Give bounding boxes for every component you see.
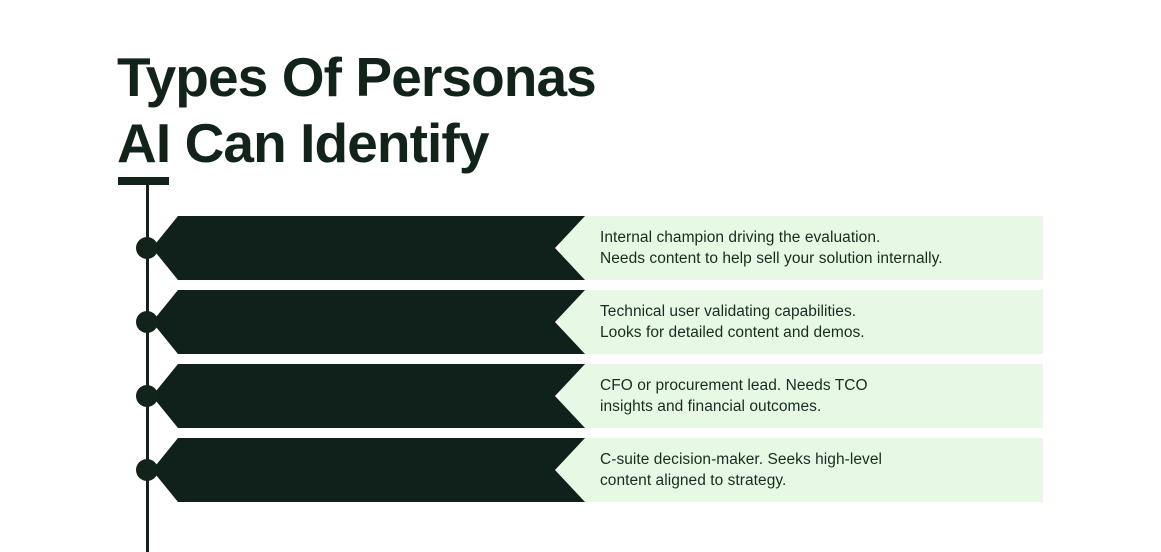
timeline-dot-3 bbox=[136, 385, 158, 407]
persona-description-panel: C-suite decision-maker. Seeks high-level… bbox=[560, 438, 1043, 502]
persona-description-text: C-suite decision-maker. Seeks high-level… bbox=[600, 449, 882, 491]
page-title-line-2: AI Can Identify bbox=[117, 110, 1017, 176]
persona-description-text: CFO or procurement lead. Needs TCO insig… bbox=[600, 375, 868, 417]
page-title: Types Of Personas AI Can Identify bbox=[117, 44, 1017, 176]
page-title-line-2-rest: Can Identify bbox=[170, 112, 488, 174]
persona-description-panel: CFO or procurement lead. Needs TCO insig… bbox=[560, 364, 1043, 428]
page-title-line-1: Types Of Personas bbox=[117, 44, 1017, 110]
persona-description-panel: Internal champion driving the evaluation… bbox=[560, 216, 1043, 280]
persona-description-text: Technical user validating capabilities. … bbox=[600, 301, 865, 343]
timeline-dot-2 bbox=[136, 311, 158, 333]
persona-description-panel: Technical user validating capabilities. … bbox=[560, 290, 1043, 354]
timeline-dot-4 bbox=[136, 459, 158, 481]
persona-banner[interactable] bbox=[152, 438, 585, 502]
persona-description-text: Internal champion driving the evaluation… bbox=[600, 227, 943, 269]
persona-banner[interactable] bbox=[152, 216, 585, 280]
persona-banner[interactable] bbox=[152, 290, 585, 354]
timeline-dot-1 bbox=[136, 237, 158, 259]
page-title-underlined-ai: AI bbox=[117, 110, 170, 176]
persona-banner[interactable] bbox=[152, 364, 585, 428]
